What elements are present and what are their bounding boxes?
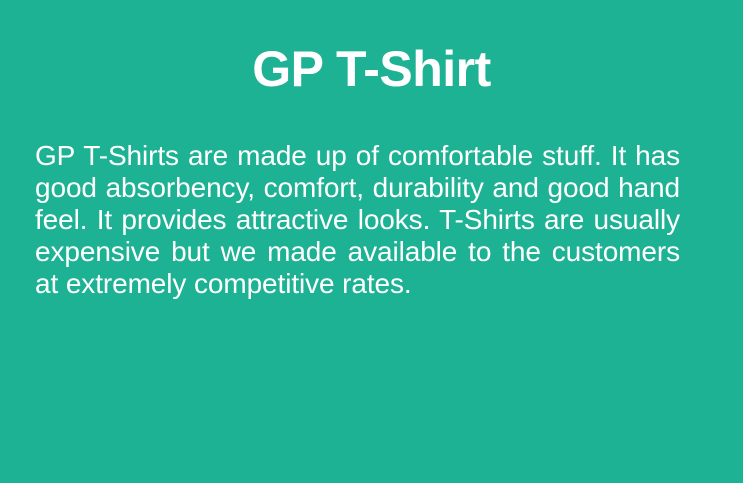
product-description-text: GP T-Shirts are made up of comfortable s…: [35, 140, 680, 300]
page-title: GP T-Shirt: [0, 40, 743, 98]
product-description-card: GP T-Shirt GP T-Shirts are made up of co…: [0, 0, 743, 483]
